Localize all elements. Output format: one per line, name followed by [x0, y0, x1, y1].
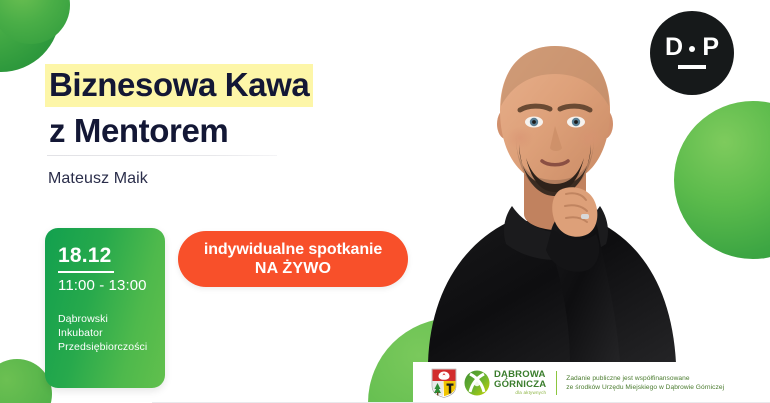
dp-logo-letter-p: P [702, 35, 719, 60]
live-meeting-badge: indywidualne spotkanie NA ŻYWO [178, 231, 408, 287]
funding-line-2: ze środków Urzędu Miejskiego w Dąbrowie … [566, 383, 724, 392]
dp-logo: D P [650, 11, 734, 95]
funding-statement: Zadanie publiczne jest współfinansowane … [566, 374, 724, 392]
title-divider [47, 155, 277, 156]
funding-footer: DĄBROWA GÓRNICZA dla aktywnych Zadanie p… [413, 362, 770, 403]
dp-logo-underline [678, 65, 706, 69]
event-venue: Dąbrowski Inkubator Przedsiębiorczości [58, 312, 152, 354]
dg-monogram-icon [464, 370, 490, 396]
page-title: Biznesowa Kawa z Mentorem [45, 64, 375, 151]
dp-logo-inner: D P [661, 33, 723, 73]
badge-line-2: NA ŻYWO [255, 259, 331, 278]
event-venue-line-2: Inkubator [58, 326, 152, 340]
event-details-card: 18.12 11:00 - 13:00 Dąbrowski Inkubator … [45, 228, 165, 388]
dp-logo-letter-d: D [665, 35, 683, 60]
headline-line-2: z Mentorem [45, 111, 228, 151]
event-venue-line-3: Przedsiębiorczości [58, 340, 152, 354]
event-time: 11:00 - 13:00 [58, 276, 152, 295]
event-date: 18.12 [58, 244, 152, 267]
dabrowa-gornicza-coat-of-arms-icon [431, 368, 457, 398]
city-name-line-2: GÓRNICZA [494, 380, 546, 390]
speaker-name: Mateusz Maik [48, 170, 148, 188]
city-wordmark: DĄBROWA GÓRNICZA dla aktywnych [494, 370, 546, 396]
speaker-portrait [420, 18, 690, 363]
city-tagline: dla aktywnych [494, 391, 546, 396]
poster-canvas: D P Biznesowa Kawa z Mentorem Mateusz Ma… [0, 0, 770, 403]
headline-line-1: Biznesowa Kawa [45, 64, 375, 107]
footer-separator [556, 371, 557, 395]
event-venue-line-1: Dąbrowski [58, 312, 152, 326]
funding-line-1: Zadanie publiczne jest współfinansowane [566, 374, 724, 383]
decorative-sphere-top-left-secondary [0, 0, 70, 44]
city-name-line-1: DĄBROWA [494, 370, 546, 380]
badge-line-1: indywidualne spotkanie [204, 240, 382, 259]
event-date-rule [58, 271, 114, 273]
dp-logo-dot-icon [689, 46, 695, 52]
